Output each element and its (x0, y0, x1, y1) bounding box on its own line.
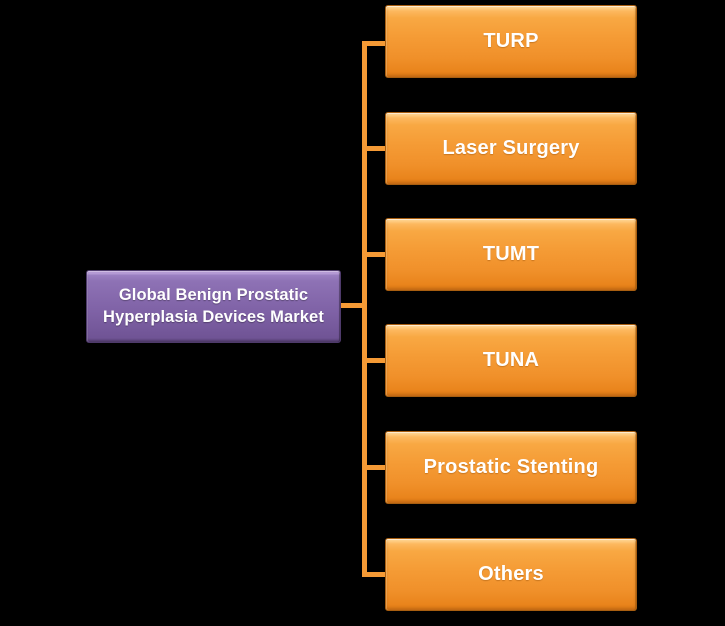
diagram-canvas: Global Benign Prostatic Hyperplasia Devi… (0, 0, 725, 626)
leaf-node-laser-surgery[interactable]: Laser Surgery (385, 112, 637, 185)
leaf-node-others[interactable]: Others (385, 538, 637, 611)
root-node-label: Global Benign Prostatic Hyperplasia Devi… (97, 285, 330, 329)
connector-branch-others (362, 572, 385, 577)
connector-branch-tuna (362, 358, 385, 363)
leaf-node-tumt[interactable]: TUMT (385, 218, 637, 291)
leaf-node-label: Others (478, 563, 544, 586)
connector-branch-tumt (362, 252, 385, 257)
leaf-node-label: TURP (483, 30, 538, 53)
leaf-node-label: TUMT (483, 243, 539, 266)
leaf-node-label: Laser Surgery (442, 137, 579, 160)
connector-branch-laser-surgery (362, 146, 385, 151)
leaf-node-label: Prostatic Stenting (424, 456, 599, 479)
leaf-node-turp[interactable]: TURP (385, 5, 637, 78)
leaf-node-label: TUNA (483, 349, 539, 372)
leaf-node-prostatic-stenting[interactable]: Prostatic Stenting (385, 431, 637, 504)
root-node-global-bph-devices-market[interactable]: Global Benign Prostatic Hyperplasia Devi… (86, 270, 341, 343)
connector-branch-turp (362, 41, 385, 46)
leaf-node-tuna[interactable]: TUNA (385, 324, 637, 397)
connector-branch-prostatic-stenting (362, 465, 385, 470)
connector-trunk (362, 41, 367, 575)
